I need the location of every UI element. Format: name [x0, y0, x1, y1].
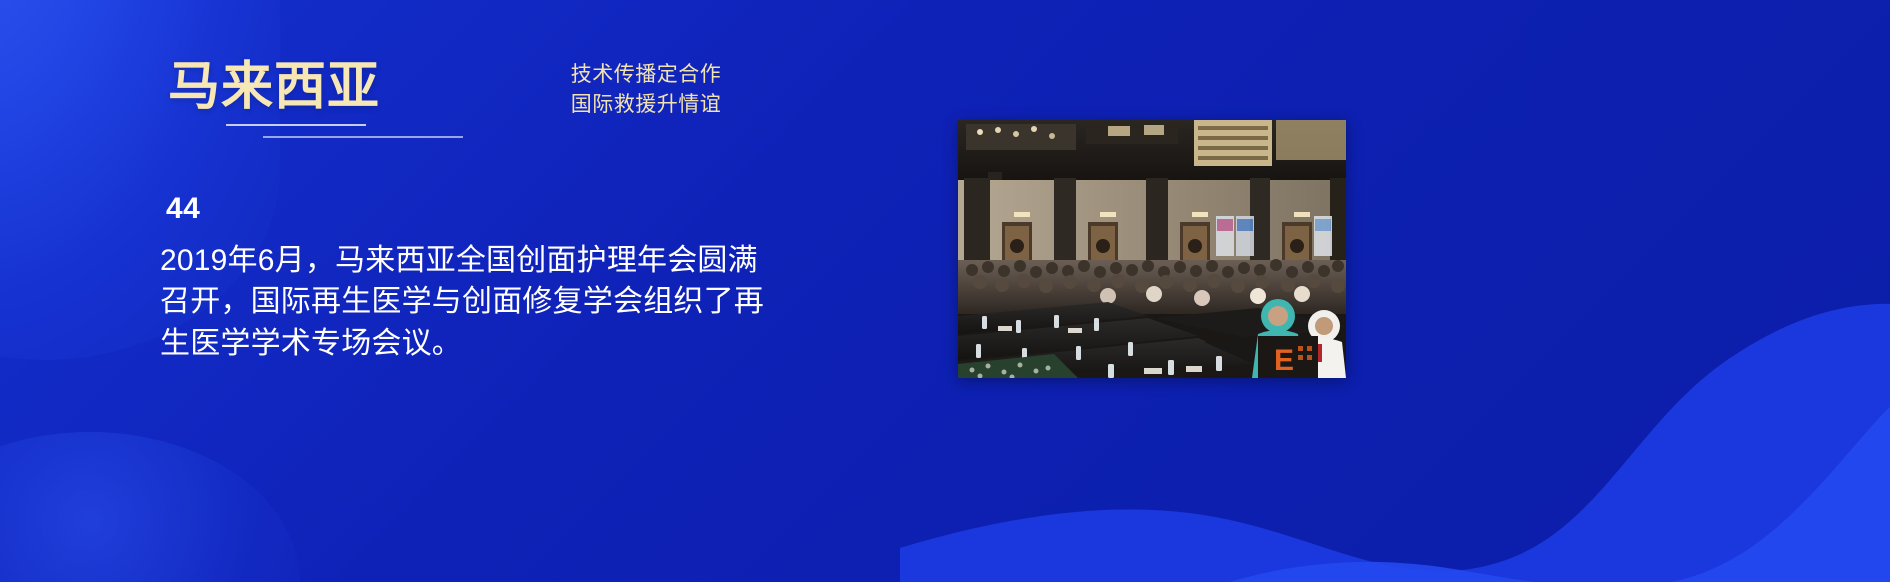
slide-subtitle: 技术传播定合作 国际救援升情谊	[496, 60, 796, 121]
body-line-3: 生医学学术专场会议。	[160, 323, 800, 364]
presentation-slide: 马来西亚 技术传播定合作 国际救援升情谊 44 2019年6月，马来西亚全国创面…	[0, 0, 1890, 582]
title-underline-secondary	[263, 136, 463, 138]
subtitle-line-2: 国际救援升情谊	[496, 90, 796, 120]
photo-banner-letter: E	[1274, 344, 1294, 377]
subtitle-line-1: 技术传播定合作	[496, 60, 796, 90]
body-paragraph: 2019年6月，马来西亚全国创面护理年会圆满 召开，国际再生医学与创面修复学会组…	[160, 240, 800, 364]
page-title: 马来西亚	[168, 60, 380, 115]
title-block: 马来西亚	[168, 60, 380, 115]
conference-photo: E	[958, 120, 1346, 378]
body-line-1: 2019年6月，马来西亚全国创面护理年会圆满	[160, 240, 800, 281]
title-underline-primary	[226, 124, 366, 126]
item-number: 44	[166, 192, 200, 226]
body-line-2: 召开，国际再生医学与创面修复学会组织了再	[160, 281, 800, 322]
